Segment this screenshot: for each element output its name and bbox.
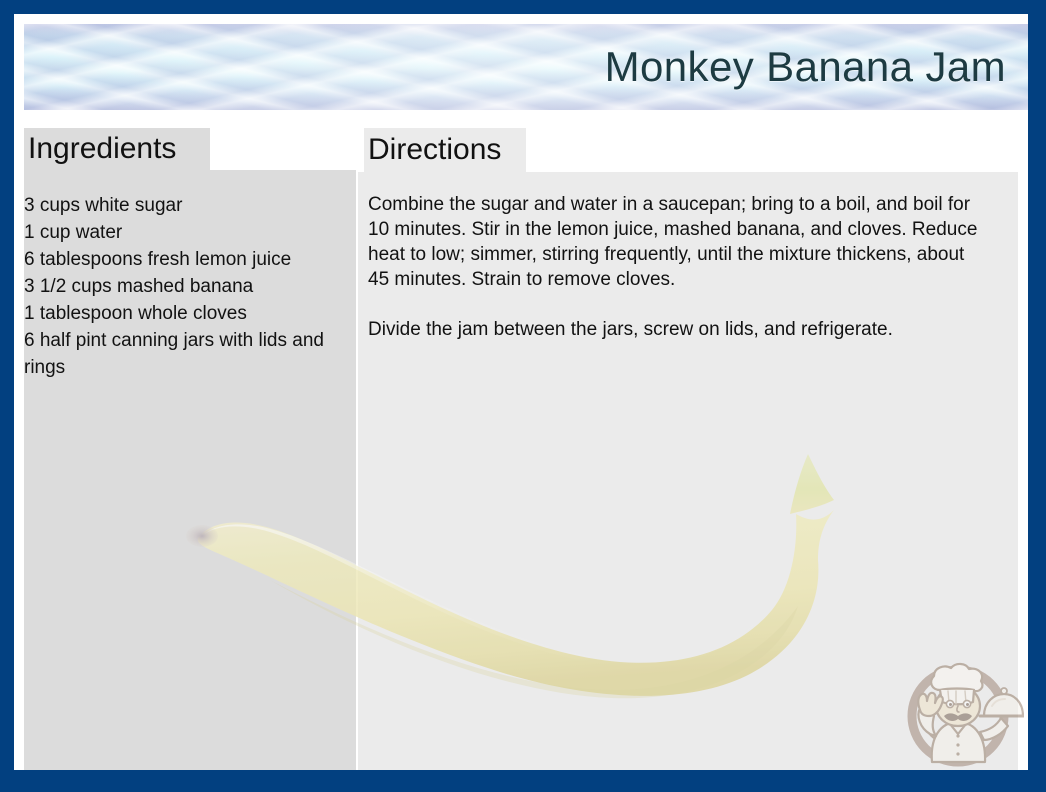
directions-paragraph: Combine the sugar and water in a saucepa…: [368, 192, 984, 292]
page-title: Monkey Banana Jam: [605, 43, 1006, 91]
border-bottom: [0, 770, 1046, 792]
list-item: 6 tablespoons fresh lemon juice: [24, 246, 344, 273]
ingredients-heading: Ingredients: [28, 134, 176, 164]
ingredients-list: 3 cups white sugar 1 cup water 6 tablesp…: [24, 192, 344, 381]
recipe-card: Monkey Banana Jam: [0, 0, 1046, 792]
list-item: 6 half pint canning jars with lids and r…: [24, 327, 344, 381]
list-item: 3 1/2 cups mashed banana: [24, 273, 344, 300]
directions-text: Combine the sugar and water in a saucepa…: [368, 192, 984, 342]
directions-paragraph: Divide the jam between the jars, screw o…: [368, 317, 984, 342]
directions-heading: Directions: [368, 135, 501, 165]
border-right: [1028, 0, 1046, 792]
border-top: [0, 0, 1046, 14]
directions-tab[interactable]: Directions: [364, 128, 526, 172]
border-left: [0, 0, 14, 792]
list-item: 1 tablespoon whole cloves: [24, 300, 344, 327]
list-item: 3 cups white sugar: [24, 192, 344, 219]
header-banner: Monkey Banana Jam: [24, 24, 1028, 110]
ingredients-tab[interactable]: Ingredients: [24, 128, 210, 170]
list-item: 1 cup water: [24, 219, 344, 246]
